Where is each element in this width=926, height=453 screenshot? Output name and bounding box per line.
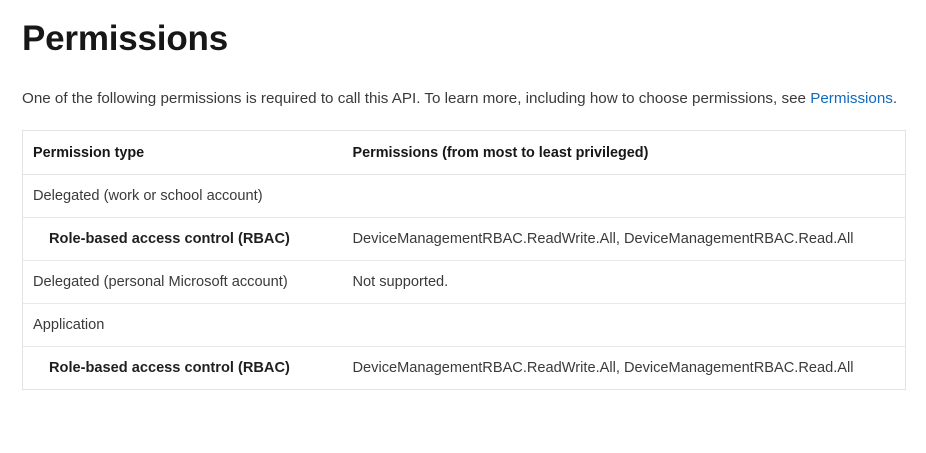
permissions-table: Permission type Permissions (from most t… bbox=[22, 130, 906, 390]
table-row: Delegated (work or school account) bbox=[23, 175, 906, 218]
table-row: Role-based access control (RBAC) DeviceM… bbox=[23, 347, 906, 390]
cell-permission-type: Role-based access control (RBAC) bbox=[23, 218, 343, 261]
permissions-table-container: Permission type Permissions (from most t… bbox=[22, 113, 904, 390]
cell-permissions: Not supported. bbox=[343, 261, 906, 304]
intro-text-after-link: . bbox=[893, 90, 897, 107]
intro-paragraph: One of the following permissions is requ… bbox=[22, 61, 904, 113]
permissions-page: Permissions One of the following permiss… bbox=[0, 0, 926, 453]
cell-permissions: DeviceManagementRBAC.ReadWrite.All, Devi… bbox=[343, 347, 906, 390]
cell-permissions bbox=[343, 175, 906, 218]
table-row: Role-based access control (RBAC) DeviceM… bbox=[23, 218, 906, 261]
table-header-row: Permission type Permissions (from most t… bbox=[23, 131, 906, 175]
table-body: Delegated (work or school account) Role-… bbox=[23, 175, 906, 390]
cell-permission-type: Delegated (work or school account) bbox=[23, 175, 343, 218]
cell-permissions: DeviceManagementRBAC.ReadWrite.All, Devi… bbox=[343, 218, 906, 261]
page-title: Permissions bbox=[22, 0, 904, 61]
cell-permission-type: Delegated (personal Microsoft account) bbox=[23, 261, 343, 304]
cell-permission-type: Role-based access control (RBAC) bbox=[23, 347, 343, 390]
column-header-permission-type: Permission type bbox=[23, 131, 343, 175]
cell-permission-type: Application bbox=[23, 304, 343, 347]
permissions-link[interactable]: Permissions bbox=[810, 90, 893, 107]
column-header-permissions: Permissions (from most to least privileg… bbox=[343, 131, 906, 175]
table-row: Delegated (personal Microsoft account) N… bbox=[23, 261, 906, 304]
intro-text-before-link: One of the following permissions is requ… bbox=[22, 90, 810, 107]
table-row: Application bbox=[23, 304, 906, 347]
cell-permissions bbox=[343, 304, 906, 347]
table-head: Permission type Permissions (from most t… bbox=[23, 131, 906, 175]
